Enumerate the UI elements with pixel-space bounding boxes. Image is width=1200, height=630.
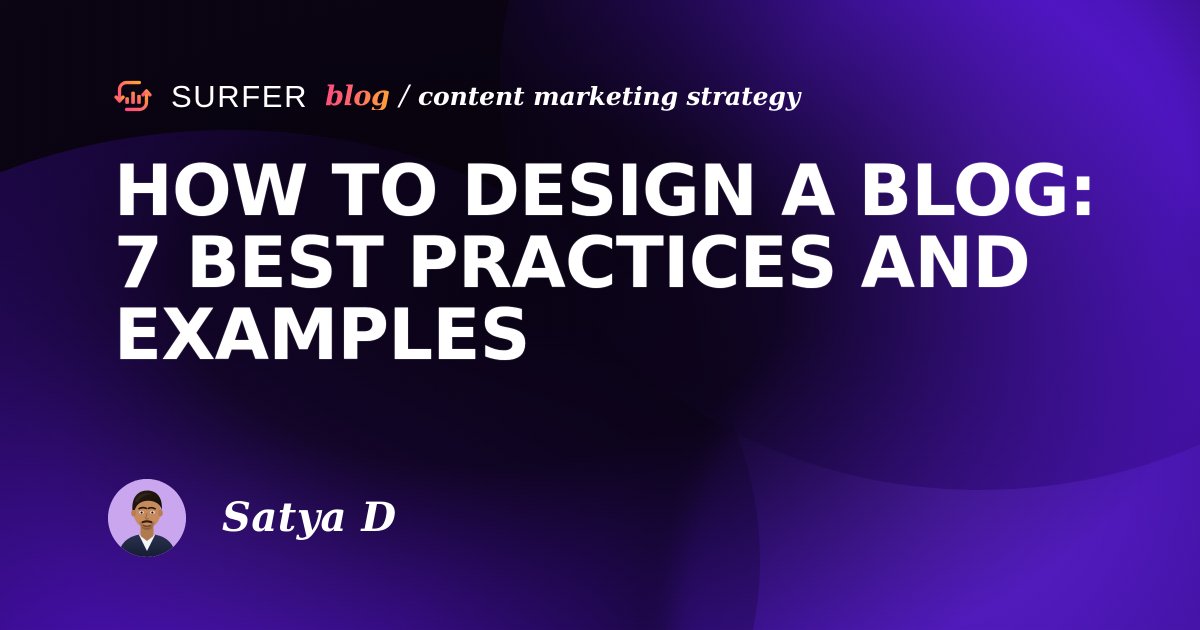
page-title-line-3: EXAMPLES (114, 299, 1094, 371)
og-share-card: SURFER blog / content marketing strategy… (0, 0, 1200, 630)
card-content: SURFER blog / content marketing strategy… (0, 0, 1200, 630)
breadcrumb-category[interactable]: content marketing strategy (418, 84, 800, 109)
avatar[interactable] (108, 479, 186, 557)
author-avatar-photo-icon (108, 479, 186, 557)
breadcrumb-separator: / (400, 82, 409, 110)
brand-name[interactable]: SURFER (171, 81, 308, 112)
surfer-logo-icon[interactable] (114, 77, 152, 115)
page-title-line-2: 7 BEST PRACTICES AND (114, 227, 1094, 299)
brand-breadcrumb: SURFER blog / content marketing strategy (114, 72, 800, 120)
author-name[interactable]: Satya D (222, 498, 397, 538)
page-title: HOW TO DESIGN A BLOG: 7 BEST PRACTICES A… (114, 155, 1094, 371)
brand-section-blog[interactable]: blog (325, 83, 389, 110)
author-byline: Satya D (108, 478, 397, 558)
page-title-line-1: HOW TO DESIGN A BLOG: (114, 155, 1094, 227)
